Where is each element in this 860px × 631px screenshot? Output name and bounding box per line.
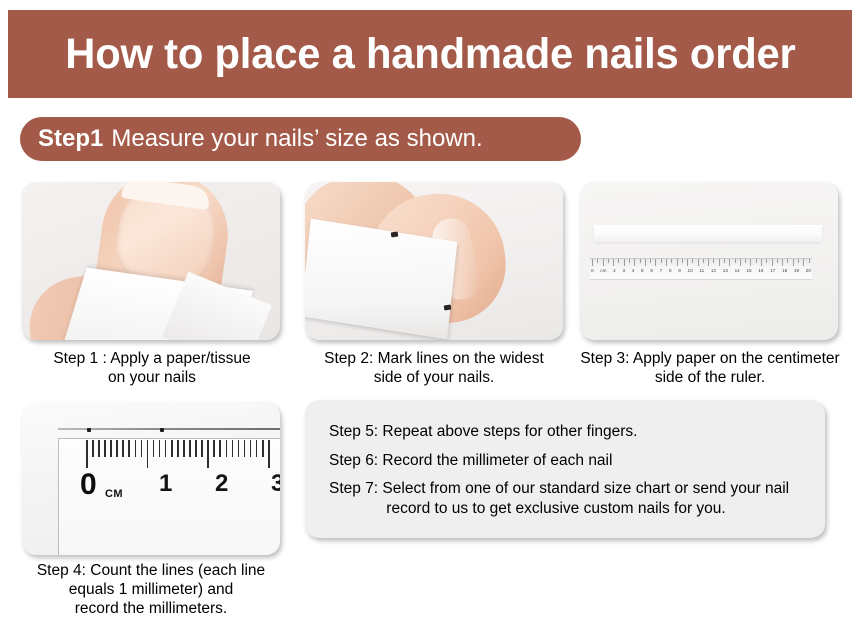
ruler-tick [750, 259, 751, 266]
ruler-millimeter-tick [147, 440, 149, 468]
ruler-millimeter-tick [250, 440, 252, 457]
ruler-tick [645, 259, 646, 266]
ruler-marker-dot [160, 428, 164, 432]
ruler-number: 10 [688, 268, 693, 273]
ruler-tick [650, 259, 651, 263]
ruler-millimeter-tick [165, 440, 167, 457]
ruler-number: 9 [678, 268, 681, 273]
ruler-tick [692, 259, 693, 263]
ruler-number: 13 [723, 268, 728, 273]
ruler-number-3: 3 [271, 472, 280, 496]
ruler-millimeter-ticks [86, 440, 268, 468]
caption-line: Step 2: Mark lines on the widest [300, 350, 568, 369]
ruler-number: 15 [746, 268, 751, 273]
ruler-tick [592, 259, 593, 266]
ruler-tick [798, 259, 799, 263]
caption-step4: Step 4: Count the lines (each line equal… [6, 562, 296, 619]
photo-strip-and-ruler: 0cm234567891011121314151617181920 [580, 182, 838, 340]
ruler-tick [777, 259, 778, 263]
ruler-number: 16 [758, 268, 763, 273]
ruler-tick [745, 259, 746, 263]
ruler-tick [661, 259, 662, 263]
ruler-tick [703, 259, 704, 263]
step7-line1: Step 7: Select from one of our standard … [329, 480, 789, 497]
ruler-tick [597, 259, 598, 263]
ruler-top-edge [58, 428, 280, 430]
ruler-number-1: 1 [159, 472, 172, 496]
photo-card-step4: 0 CM 1 2 3 [22, 402, 280, 555]
ruler-tick [666, 259, 667, 266]
ruler-millimeter-tick [177, 440, 179, 457]
ruler-zero-label: 0 [80, 470, 97, 500]
ruler-millimeter-tick [183, 440, 185, 457]
ruler-tick [809, 259, 810, 263]
caption-line: side of the ruler. [572, 369, 848, 388]
ruler-millimeter-tick [92, 440, 94, 457]
ruler-millimeter-tick [238, 440, 240, 457]
ruler-millimeter-tick [232, 440, 234, 457]
caption-step3: Step 3: Apply paper on the centimeter si… [572, 350, 848, 388]
ruler-number: 6 [650, 268, 653, 273]
ruler-millimeter-tick [219, 440, 221, 457]
ruler-millimeter-tick [141, 440, 143, 457]
ruler-millimeter-tick [110, 440, 112, 457]
ruler-tick [671, 259, 672, 263]
ruler-millimeter-tick [104, 440, 106, 457]
step1-label: Step1 [38, 125, 103, 153]
photo-card-step2 [305, 182, 563, 340]
ruler-number: 8 [669, 268, 672, 273]
ruler-tick [713, 259, 714, 263]
header-banner: How to place a handmade nails order [8, 10, 852, 98]
caption-line: record the millimeters. [6, 600, 296, 619]
photo-marked-paper [305, 182, 563, 340]
ruler-millimeter-tick [201, 440, 203, 457]
page-title: How to place a handmade nails order [65, 30, 795, 79]
ruler-millimeter-tick [195, 440, 197, 457]
ruler-number: 17 [770, 268, 775, 273]
ruler-millimeter-tick [262, 440, 264, 457]
steps-5-7-panel: Step 5: Repeat above steps for other fin… [305, 400, 825, 538]
ruler-tick [687, 259, 688, 266]
ruler-tick [766, 259, 767, 263]
ruler-tick [772, 259, 773, 266]
ruler-tick [740, 259, 741, 266]
ruler-tick [719, 259, 720, 266]
ruler-tick [640, 259, 641, 263]
ruler-tick [624, 259, 625, 266]
photo-large-ruler: 0 CM 1 2 3 [22, 402, 280, 555]
ruler-tick [782, 259, 783, 266]
caption-step1: Step 1 : Apply a paper/tissue on your na… [14, 350, 290, 388]
instruction-infographic: How to place a handmade nails order Step… [0, 0, 860, 631]
step5-text: Step 5: Repeat above steps for other fin… [329, 422, 801, 442]
ruler-tick [603, 259, 604, 266]
photo-card-step1 [22, 182, 280, 340]
ruler-millimeter-tick [135, 440, 137, 457]
ruler-millimeter-tick [86, 440, 88, 468]
ruler-number: 19 [794, 268, 799, 273]
step1-instruction: Measure your nails’ size as shown. [111, 125, 482, 153]
step7-text: Step 7: Select from one of our standard … [329, 479, 801, 518]
ruler-millimeter-tick [116, 440, 118, 457]
ruler-tick [756, 259, 757, 263]
ruler-number: 2 [613, 268, 616, 273]
ruler-number: 5 [641, 268, 644, 273]
ruler-tick [724, 259, 725, 263]
ruler-millimeter-tick [128, 440, 130, 457]
step1-banner: Step1 Measure your nails’ size as shown. [20, 117, 581, 161]
ruler-millimeter-tick [98, 440, 100, 457]
ruler-millimeter-tick [207, 440, 209, 468]
step7-line2: record to us to get exclusive custom nai… [329, 499, 801, 519]
ruler-number-2: 2 [215, 472, 228, 496]
ruler-unit-label: CM [105, 488, 123, 500]
caption-line: Step 1 : Apply a paper/tissue [14, 350, 290, 369]
caption-line: equals 1 millimeter) and [6, 581, 296, 600]
ruler-millimeter-tick [159, 440, 161, 457]
photo-card-step3: 0cm234567891011121314151617181920 [580, 182, 838, 340]
caption-step2: Step 2: Mark lines on the widest side of… [300, 350, 568, 388]
step6-text: Step 6: Record the millimeter of each na… [329, 451, 801, 471]
ruler-tick [803, 259, 804, 266]
ruler-number-labels: 0 CM 1 2 3 [58, 466, 280, 506]
ruler-marker-dot [87, 428, 91, 432]
mark-line-bottom [444, 305, 452, 311]
caption-line: Step 4: Count the lines (each line [6, 562, 296, 581]
ruler-tick [655, 259, 656, 266]
ruler-number: cm [600, 268, 606, 273]
small-ruler-shape: 0cm234567891011121314151617181920 [590, 258, 812, 280]
ruler-tick [729, 259, 730, 266]
ruler-number: 4 [632, 268, 635, 273]
ruler-tick-row [590, 259, 812, 267]
ruler-tick [735, 259, 736, 263]
ruler-tick [634, 259, 635, 266]
paper-strip-shape [594, 225, 822, 242]
ruler-millimeter-tick [256, 440, 258, 457]
ruler-tick [698, 259, 699, 266]
ruler-millimeter-tick [189, 440, 191, 457]
caption-line: side of your nails. [300, 369, 568, 388]
ruler-millimeter-tick [171, 440, 173, 457]
ruler-number-row: 0cm234567891011121314151617181920 [590, 268, 812, 273]
ruler-millimeter-tick [213, 440, 215, 457]
mark-line-top [391, 232, 399, 238]
caption-line: on your nails [14, 369, 290, 388]
ruler-millimeter-tick [226, 440, 228, 457]
ruler-number: 0 [591, 268, 594, 273]
ruler-number: 20 [806, 268, 811, 273]
ruler-tick [787, 259, 788, 263]
ruler-millimeter-tick [268, 440, 270, 468]
ruler-number: 11 [699, 268, 704, 273]
ruler-millimeter-tick [153, 440, 155, 457]
ruler-tick [793, 259, 794, 266]
ruler-number: 14 [735, 268, 740, 273]
ruler-tick [608, 259, 609, 263]
caption-line: Step 3: Apply paper on the centimeter [572, 350, 848, 369]
ruler-millimeter-tick [122, 440, 124, 457]
ruler-number: 12 [711, 268, 716, 273]
ruler-millimeter-tick [244, 440, 246, 457]
ruler-tick [613, 259, 614, 266]
ruler-tick [618, 259, 619, 263]
ruler-tick [761, 259, 762, 266]
ruler-tick [629, 259, 630, 263]
ruler-number: 7 [660, 268, 663, 273]
photo-fingertip-tissue [22, 182, 280, 340]
ruler-number: 18 [782, 268, 787, 273]
ruler-tick [682, 259, 683, 263]
ruler-number: 3 [622, 268, 625, 273]
ruler-tick [708, 259, 709, 266]
ruler-tick [677, 259, 678, 266]
